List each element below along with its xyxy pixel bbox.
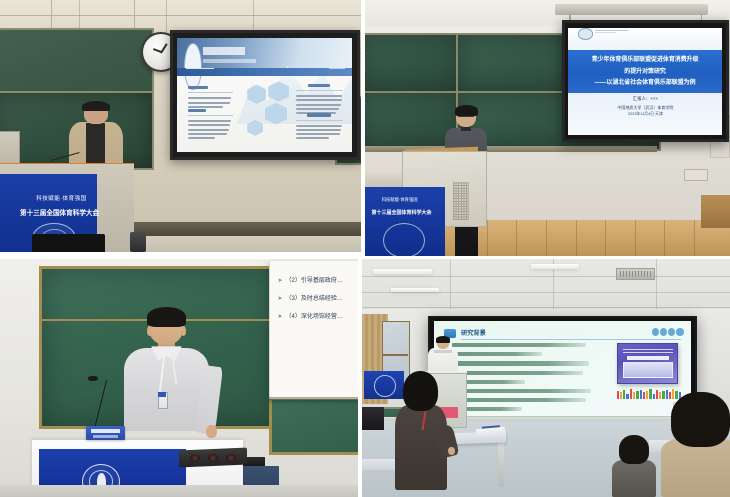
beanie-hat	[455, 105, 479, 115]
step-dot-icon	[660, 328, 667, 336]
slide-title-line-3: ——以湖北省社会体育俱乐部联盟为例	[571, 77, 719, 86]
slide-affiliation: 中国地质大学（武汉）体育学院	[568, 105, 722, 111]
power-socket-icon[interactable]	[208, 454, 219, 462]
wooden-chair	[701, 195, 730, 228]
step-dot-icon	[668, 328, 675, 336]
hair	[619, 435, 649, 463]
laptop	[32, 234, 104, 252]
hair	[147, 307, 186, 328]
step-dot-icon	[652, 328, 659, 336]
chalkboard-right	[269, 397, 359, 455]
chair	[362, 407, 384, 431]
presentation-slide: 青少年体育俱乐部联盟促进体育消费升级 的提升对策研究 ——以湖北省社会体育俱乐部…	[568, 28, 722, 135]
conference-photo-top-right: 青少年体育俱乐部联盟促进体育消费升级 的提升对策研究 ——以湖北省社会体育俱乐部…	[365, 0, 730, 256]
slide-top-band	[568, 28, 722, 51]
bullet-arrow-icon: ➤	[278, 278, 283, 284]
conference-photo-top-left: 科技赋能·体育强国 第十三届全国体育科学大会	[0, 0, 361, 252]
slide-bullet-1: ➤（2）引导基层政府…	[278, 275, 343, 284]
wall-outlet-icon	[684, 169, 708, 181]
banner-line-1: 科技赋能·体育强国	[29, 193, 94, 204]
projection-screen	[170, 30, 360, 159]
slide-nav-bar	[177, 68, 352, 77]
university-logo-icon	[578, 28, 594, 40]
power-socket-icon[interactable]	[226, 454, 237, 462]
slide-body-text	[446, 343, 592, 406]
audience-member-mid-right	[612, 435, 656, 497]
banner-line-2: 第十三届全国体育科学大会	[365, 209, 438, 216]
screen-mount-rail	[555, 4, 708, 16]
microphone-head-icon	[88, 376, 99, 381]
slide-bullet-2: ➤（3）及时总结经验…	[278, 293, 343, 302]
hair	[671, 392, 730, 446]
photo-collage: 科技赋能·体育强国 第十三届全国体育科学大会 青少年体育俱乐部联盟促进	[0, 0, 730, 497]
slide-title-line-1: 青少年体育俱乐部联盟促进体育消费升级	[571, 54, 719, 63]
audience-member-front-left	[395, 371, 447, 490]
banner-seal-icon	[383, 223, 425, 256]
presenter	[122, 307, 212, 455]
ceiling-vent-icon	[616, 268, 655, 280]
presentation-slide	[177, 38, 352, 152]
slide-date: 2023年11月4日·天津	[568, 112, 722, 117]
banner-line-2: 第十三届全国体育科学大会	[18, 207, 101, 219]
glasses-icon	[458, 116, 474, 120]
university-logo-icon	[184, 43, 202, 90]
slide-bullet-3: ➤（4）深化场馆经营…	[278, 311, 343, 320]
step-dot-icon	[676, 328, 683, 336]
water-bottle	[130, 232, 146, 252]
projection-screen: 研究背景	[428, 316, 697, 427]
bullet-arrow-icon: ➤	[278, 296, 283, 302]
presentation-slide: 研究背景	[434, 321, 691, 423]
chalkboard-left-upper	[365, 33, 464, 93]
speaker-grille-icon	[453, 182, 470, 220]
projection-screen: ➤（2）引导基层政府… ➤（3）及时总结经验… ➤（4）深化场馆经营…	[269, 261, 359, 399]
floor	[0, 485, 358, 497]
slide-title-line-2: 的提升对策研究	[571, 66, 719, 75]
chalkboard-upper	[0, 28, 154, 95]
audience-member-front-right	[664, 392, 730, 497]
side-desk	[365, 172, 405, 187]
power-socket-icon[interactable]	[190, 454, 201, 462]
conference-photo-bottom-left: ➤（2）引导基层政府… ➤（3）及时总结经验… ➤（4）深化场馆经营…	[0, 259, 358, 497]
hat	[82, 101, 110, 112]
conference-photo-bottom-right: 研究背景	[362, 259, 730, 497]
dsm5-book-cover	[617, 343, 678, 384]
hair	[403, 371, 438, 411]
hair	[436, 336, 450, 342]
banner-line-1: 科技赋能·体育强国	[369, 197, 431, 203]
slide-title: 研究背景	[461, 328, 486, 337]
slide-step-dots	[627, 328, 684, 336]
bullet-arrow-icon: ➤	[278, 314, 283, 320]
slide-author: 汇报人：×××	[568, 96, 722, 102]
projection-screen: 青少年体育俱乐部联盟促进体育消费升级 的提升对策研究 ——以湖北省社会体育俱乐部…	[562, 20, 729, 141]
